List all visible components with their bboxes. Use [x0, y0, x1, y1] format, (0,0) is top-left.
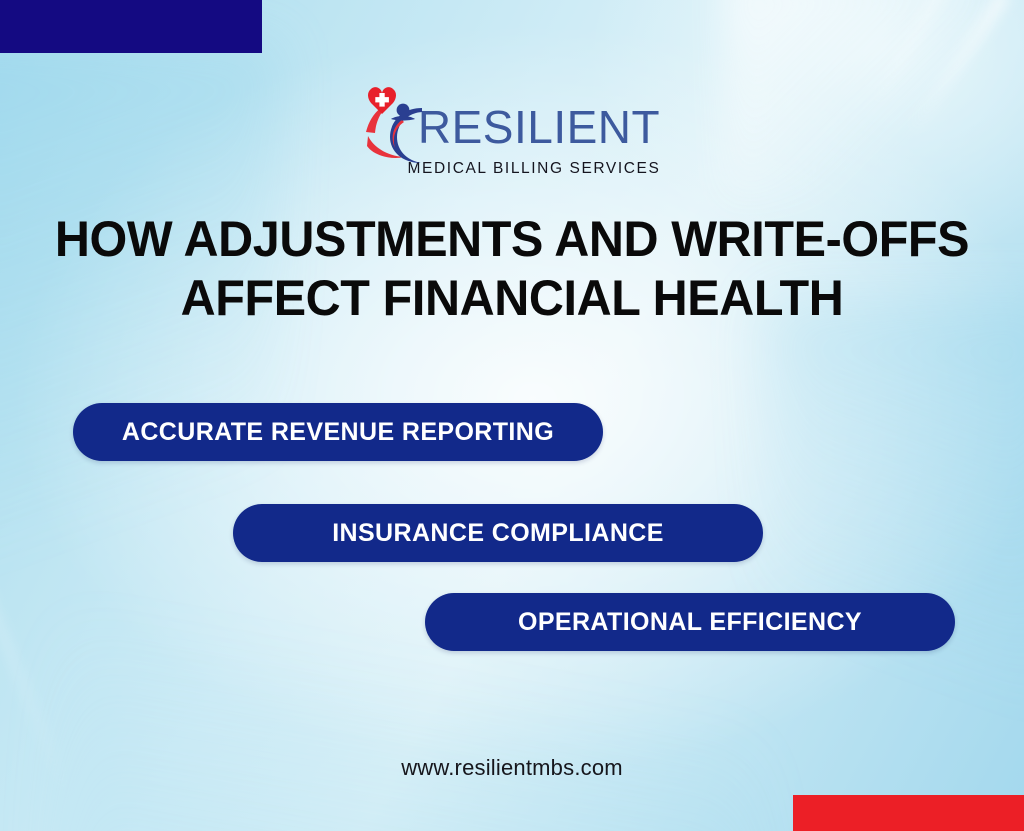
heart-cross-person-logo-icon — [364, 86, 426, 164]
benefit-pill-insurance-compliance[interactable]: INSURANCE COMPLIANCE — [233, 504, 763, 562]
benefit-pill-operational-efficiency[interactable]: OPERATIONAL EFFICIENCY — [425, 593, 955, 651]
background-wash-right — [764, 300, 1024, 831]
benefit-pill-accurate-revenue-reporting[interactable]: ACCURATE REVENUE REPORTING — [73, 403, 603, 461]
brand-tagline: MEDICAL BILLING SERVICES — [408, 160, 661, 178]
corner-block-red — [793, 795, 1024, 831]
corner-block-navy — [0, 0, 262, 53]
logo-row: RESILIENT — [364, 86, 660, 164]
brand-wordmark: RESILIENT — [418, 104, 660, 150]
page-title-line-1: HOW ADJUSTMENTS AND WRITE-OFFS — [15, 210, 1008, 269]
brand-logo: RESILIENT MEDICAL BILLING SERVICES — [0, 86, 1024, 178]
poster-canvas: RESILIENT MEDICAL BILLING SERVICES HOW A… — [0, 0, 1024, 831]
page-title: HOW ADJUSTMENTS AND WRITE-OFFS AFFECT FI… — [15, 210, 1008, 328]
website-url[interactable]: www.resilientmbs.com — [0, 755, 1024, 781]
page-title-line-2: AFFECT FINANCIAL HEALTH — [15, 269, 1008, 328]
